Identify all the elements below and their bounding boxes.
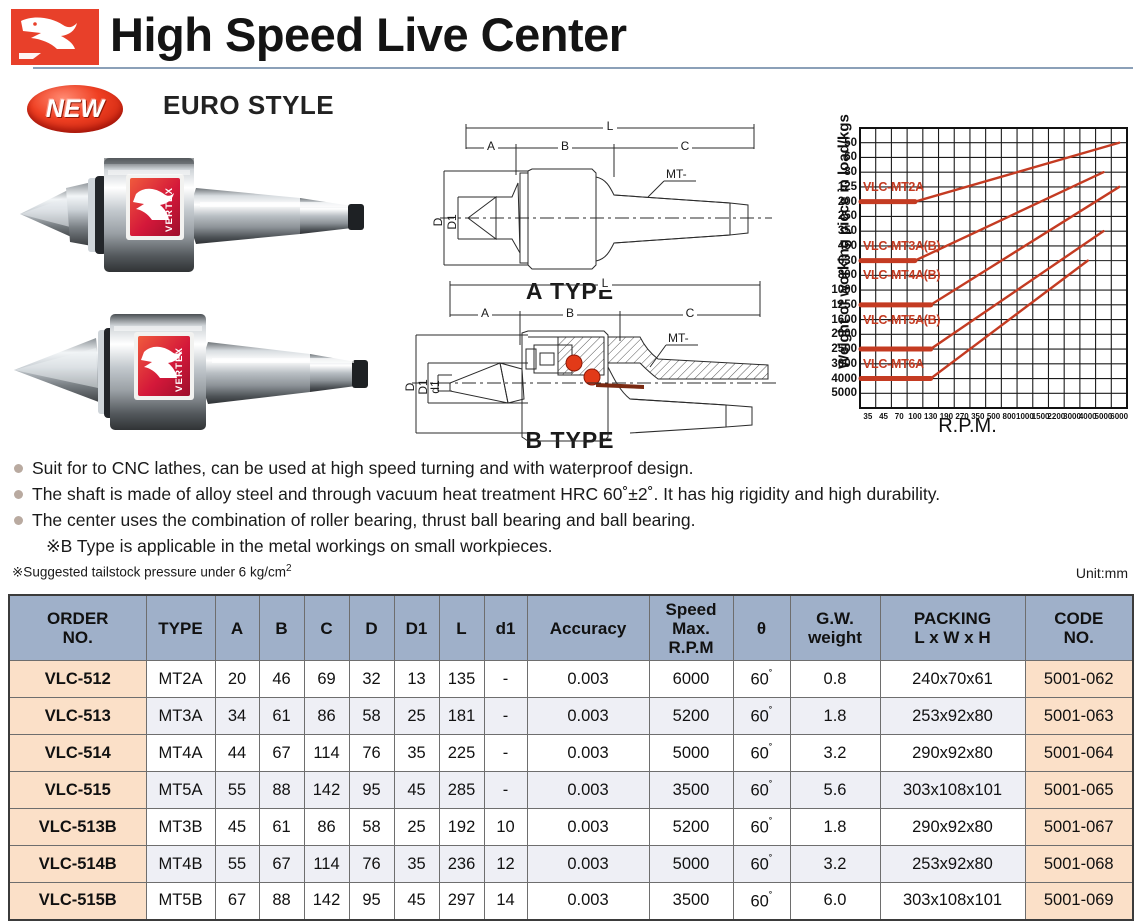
cell-c: 142 (304, 772, 349, 809)
cell-theta: 60˚ (733, 735, 790, 772)
col-speed-max-rpm: Speed Max. R.P.M (649, 595, 733, 661)
cell-d1-small: - (484, 735, 527, 772)
sub-note-text: ※B Type is applicable in the metal worki… (46, 533, 553, 559)
chart-plot (795, 115, 1140, 415)
bullet-dot-icon (14, 516, 23, 525)
cell-d1-small: - (484, 698, 527, 735)
cell-b: 88 (259, 772, 304, 809)
cell-d1: 45 (394, 883, 439, 920)
cell-d1: 25 (394, 698, 439, 735)
cell-order-no: VLC-512 (9, 661, 146, 698)
cell-b: 61 (259, 698, 304, 735)
cell-gw-weight: 6.0 (790, 883, 880, 920)
svg-text:C: C (686, 306, 695, 320)
col-l: L (439, 595, 484, 661)
page-title: High Speed Live Center (110, 6, 627, 64)
svg-text:MT-: MT- (668, 331, 689, 345)
cell-gw-weight: 1.8 (790, 809, 880, 846)
cell-a: 45 (215, 809, 259, 846)
cell-d: 32 (349, 661, 394, 698)
cell-l: 181 (439, 698, 484, 735)
unit-note: Unit:mm (1076, 565, 1128, 581)
technical-drawing-a-type: L A B C D D1 MT- (400, 115, 790, 277)
cell-code-no: 5001-068 (1025, 846, 1133, 883)
cell-type: MT4A (146, 735, 215, 772)
svg-text:L: L (607, 119, 614, 133)
cell-d1-small: 12 (484, 846, 527, 883)
feature-text: The shaft is made of alloy steel and thr… (32, 481, 940, 507)
col-b: B (259, 595, 304, 661)
cell-b: 67 (259, 735, 304, 772)
cell-order-no: VLC-514 (9, 735, 146, 772)
cell-code-no: 5001-065 (1025, 772, 1133, 809)
svg-text:D: D (403, 382, 417, 391)
table-header-row: ORDER NO. TYPE A B C D D1 L d1 Accuracy … (9, 595, 1133, 661)
col-accuracy: Accuracy (527, 595, 649, 661)
cell-l: 225 (439, 735, 484, 772)
svg-text:D: D (431, 217, 445, 226)
cell-order-no: VLC-515B (9, 883, 146, 920)
cell-gw-weight: 3.2 (790, 735, 880, 772)
col-code-no: CODE NO. (1025, 595, 1133, 661)
cell-packing: 253x92x80 (880, 698, 1025, 735)
cell-theta: 60˚ (733, 661, 790, 698)
cell-theta: 60˚ (733, 846, 790, 883)
specification-table: ORDER NO. TYPE A B C D D1 L d1 Accuracy … (8, 594, 1134, 921)
chart-series-label: VLC-MT4A(B) (863, 268, 940, 282)
cell-d: 58 (349, 698, 394, 735)
cell-d1-small: 10 (484, 809, 527, 846)
feature-text: The center uses the combination of rolle… (32, 507, 695, 533)
cell-theta: 60˚ (733, 772, 790, 809)
cell-l: 297 (439, 883, 484, 920)
col-type: TYPE (146, 595, 215, 661)
cell-l: 236 (439, 846, 484, 883)
chart-x-axis-label: R.P.M. (795, 415, 1140, 438)
cell-accuracy: 0.003 (527, 809, 649, 846)
col-d: D (349, 595, 394, 661)
cell-order-no: VLC-515 (9, 772, 146, 809)
cell-l: 192 (439, 809, 484, 846)
list-item: ※B Type is applicable in the metal worki… (12, 533, 1140, 559)
cell-a: 67 (215, 883, 259, 920)
cell-code-no: 5001-063 (1025, 698, 1133, 735)
cell-c: 86 (304, 809, 349, 846)
cell-code-no: 5001-067 (1025, 809, 1133, 846)
cell-d1-small: - (484, 661, 527, 698)
cell-a: 55 (215, 846, 259, 883)
table-row: VLC-514BMT4B55671147635236120.003500060˚… (9, 846, 1133, 883)
title-divider (33, 67, 1133, 69)
pressure-note-sup: 2 (286, 563, 292, 574)
cell-code-no: 5001-069 (1025, 883, 1133, 920)
cell-accuracy: 0.003 (527, 772, 649, 809)
svg-text:C: C (681, 139, 690, 153)
list-item: The center uses the combination of rolle… (12, 507, 1140, 533)
cell-type: MT2A (146, 661, 215, 698)
cell-gw-weight: 1.8 (790, 698, 880, 735)
cell-d: 76 (349, 735, 394, 772)
cell-speed: 5200 (649, 809, 733, 846)
col-d1-small: d1 (484, 595, 527, 661)
svg-text:B: B (566, 306, 574, 320)
cell-gw-weight: 3.2 (790, 846, 880, 883)
subtitle-euro-style: EURO STYLE (163, 90, 334, 121)
cell-speed: 3500 (649, 772, 733, 809)
cell-d1: 35 (394, 735, 439, 772)
cell-d1: 25 (394, 809, 439, 846)
bullet-dot-icon (14, 464, 23, 473)
cell-a: 20 (215, 661, 259, 698)
cell-order-no: VLC-513 (9, 698, 146, 735)
cell-accuracy: 0.003 (527, 661, 649, 698)
cell-accuracy: 0.003 (527, 883, 649, 920)
chart-series-label: VLC-MT3A(B) (863, 239, 940, 253)
svg-text:A: A (481, 306, 489, 320)
cell-type: MT4B (146, 846, 215, 883)
cell-code-no: 5001-062 (1025, 661, 1133, 698)
pressure-note-text: ※Suggested tailstock pressure under 6 kg… (12, 565, 286, 580)
cell-d: 95 (349, 772, 394, 809)
cell-theta: 60˚ (733, 698, 790, 735)
col-order-no: ORDER NO. (9, 595, 146, 661)
cell-speed: 6000 (649, 661, 733, 698)
cell-c: 114 (304, 846, 349, 883)
page-header: High Speed Live Center (0, 0, 1140, 72)
cell-a: 44 (215, 735, 259, 772)
col-packing: PACKING L x W x H (880, 595, 1025, 661)
new-badge: NEW (27, 85, 123, 133)
cell-accuracy: 0.003 (527, 698, 649, 735)
tailstock-pressure-note: ※Suggested tailstock pressure under 6 kg… (12, 563, 292, 581)
svg-text:VERTEX: VERTEX (174, 347, 185, 392)
cell-theta: 60˚ (733, 809, 790, 846)
cell-d: 95 (349, 883, 394, 920)
cell-packing: 303x108x101 (880, 772, 1025, 809)
cell-speed: 5200 (649, 698, 733, 735)
chart-x-ticks: 3545701001301902703505008001000150022003… (795, 115, 1140, 135)
cell-packing: 290x92x80 (880, 735, 1025, 772)
feature-text: Suit for to CNC lathes, can be used at h… (32, 455, 694, 481)
col-d1: D1 (394, 595, 439, 661)
cell-type: MT3A (146, 698, 215, 735)
cell-c: 114 (304, 735, 349, 772)
cell-b: 61 (259, 809, 304, 846)
cell-b: 67 (259, 846, 304, 883)
svg-text:VERTEX: VERTEX (164, 187, 175, 232)
cell-c: 142 (304, 883, 349, 920)
cell-type: MT5B (146, 883, 215, 920)
cell-c: 86 (304, 698, 349, 735)
feature-list: Suit for to CNC lathes, can be used at h… (12, 455, 1140, 559)
svg-text:B: B (561, 139, 569, 153)
cell-d: 58 (349, 809, 394, 846)
cell-a: 34 (215, 698, 259, 735)
cell-d1: 13 (394, 661, 439, 698)
cell-c: 69 (304, 661, 349, 698)
col-a: A (215, 595, 259, 661)
cell-l: 285 (439, 772, 484, 809)
list-item: Suit for to CNC lathes, can be used at h… (12, 455, 1140, 481)
cell-type: MT3B (146, 809, 215, 846)
svg-text:D1: D1 (445, 214, 459, 230)
load-vs-rpm-chart: Weight of working piece in load/kgs 5060… (795, 115, 1140, 447)
cell-order-no: VLC-514B (9, 846, 146, 883)
cell-b: 46 (259, 661, 304, 698)
cell-d1-small: - (484, 772, 527, 809)
cell-speed: 5000 (649, 735, 733, 772)
new-badge-label: NEW (27, 85, 123, 133)
svg-text:d1: d1 (428, 380, 442, 394)
cell-accuracy: 0.003 (527, 735, 649, 772)
col-gw-weight: G.W. weight (790, 595, 880, 661)
cell-speed: 3500 (649, 883, 733, 920)
cell-d: 76 (349, 846, 394, 883)
table-row: VLC-514MT4A44671147635225-0.003500060˚3.… (9, 735, 1133, 772)
cell-l: 135 (439, 661, 484, 698)
technical-drawing-b-type: L A B C D D1 d1 MT- (382, 275, 790, 447)
cell-d1-small: 14 (484, 883, 527, 920)
cell-packing: 240x70x61 (880, 661, 1025, 698)
cell-b: 88 (259, 883, 304, 920)
table-row: VLC-513BMT3B4561865825192100.003520060˚1… (9, 809, 1133, 846)
cell-order-no: VLC-513B (9, 809, 146, 846)
table-row: VLC-515MT5A55881429545285-0.003350060˚5.… (9, 772, 1133, 809)
chart-series-label: VLC-MT6A (863, 357, 924, 371)
cell-packing: 253x92x80 (880, 846, 1025, 883)
cell-theta: 60˚ (733, 883, 790, 920)
cell-speed: 5000 (649, 846, 733, 883)
chart-series-label: VLC-MT5A(B) (863, 313, 940, 327)
cell-packing: 290x92x80 (880, 809, 1025, 846)
col-c: C (304, 595, 349, 661)
cell-type: MT5A (146, 772, 215, 809)
col-theta: θ (733, 595, 790, 661)
svg-text:L: L (602, 276, 609, 290)
table-row: VLC-515BMT5B67881429545297140.003350060˚… (9, 883, 1133, 920)
cell-gw-weight: 5.6 (790, 772, 880, 809)
chart-series-label: VLC-MT2A (863, 180, 924, 194)
cell-code-no: 5001-064 (1025, 735, 1133, 772)
svg-text:MT-: MT- (666, 167, 687, 181)
table-row: VLC-512MT2A2046693213135-0.003600060˚0.8… (9, 661, 1133, 698)
cell-d1: 35 (394, 846, 439, 883)
cell-packing: 303x108x101 (880, 883, 1025, 920)
table-row: VLC-513MT3A3461865825181-0.003520060˚1.8… (9, 698, 1133, 735)
cell-d1: 45 (394, 772, 439, 809)
cell-a: 55 (215, 772, 259, 809)
eagle-head-logo-icon (11, 9, 99, 65)
list-item: The shaft is made of alloy steel and thr… (12, 481, 1140, 507)
cell-gw-weight: 0.8 (790, 661, 880, 698)
bullet-dot-icon (14, 490, 23, 499)
svg-text:A: A (487, 139, 495, 153)
cell-accuracy: 0.003 (527, 846, 649, 883)
